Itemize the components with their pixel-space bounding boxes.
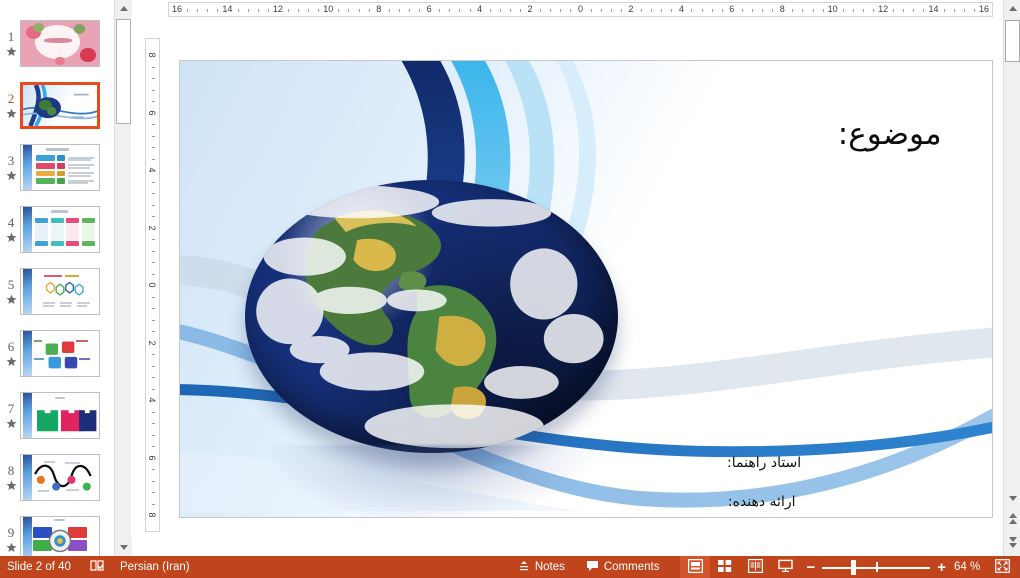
comments-label: Comments bbox=[604, 561, 660, 573]
ruler-tick-label: 6 bbox=[729, 4, 734, 14]
comment-bubble-icon bbox=[586, 560, 599, 575]
star-animation-icon bbox=[6, 540, 17, 551]
zoom-percentage-label: 64 % bbox=[954, 561, 980, 573]
scroll-down-button[interactable] bbox=[1004, 490, 1020, 506]
star-animation-icon bbox=[6, 416, 17, 427]
ruler-tick bbox=[268, 9, 269, 12]
ruler-tick-label: 2 bbox=[147, 225, 157, 230]
ruler-tick bbox=[152, 67, 155, 68]
ruler-tick bbox=[409, 9, 410, 12]
slide-thumbnail-pane[interactable]: 1 2 bbox=[0, 0, 114, 556]
ruler-tick bbox=[298, 9, 299, 12]
ruler-tick bbox=[510, 9, 511, 12]
star-animation-icon bbox=[6, 168, 17, 179]
ruler-tick bbox=[187, 9, 188, 12]
ruler-tick bbox=[570, 9, 571, 12]
ruler-tick bbox=[974, 9, 975, 12]
ruler-tick bbox=[944, 9, 945, 12]
ruler-tick bbox=[500, 9, 501, 12]
thumbnail-meta: 9 bbox=[0, 527, 20, 551]
thumbnail-slide-3[interactable]: 3 bbox=[0, 136, 114, 198]
ruler-tick-label: 8 bbox=[147, 52, 157, 57]
previous-slide-button[interactable] bbox=[1004, 510, 1020, 526]
current-slide[interactable]: موضوع: استاد راهنما: ارائه دهنده: bbox=[179, 60, 993, 518]
normal-view-button[interactable] bbox=[680, 556, 710, 578]
ruler-tick bbox=[823, 9, 824, 12]
star-animation-icon bbox=[6, 478, 17, 489]
thumbnail-image[interactable] bbox=[20, 268, 100, 315]
ruler-tick bbox=[152, 320, 155, 321]
ruler-tick bbox=[389, 9, 390, 12]
ruler-tick-label: 8 bbox=[376, 4, 381, 14]
thumbnail-meta: 3 bbox=[0, 155, 20, 179]
ruler-tick bbox=[601, 9, 602, 12]
thumbnail-number: 5 bbox=[8, 279, 15, 291]
ruler-tick bbox=[152, 90, 155, 91]
globe-reflection bbox=[267, 445, 596, 518]
ruler-tick bbox=[152, 446, 155, 447]
ruler-tick bbox=[152, 251, 155, 252]
ruler-tick-label: 8 bbox=[147, 512, 157, 517]
thumbnail-meta: 4 bbox=[0, 217, 20, 241]
status-bar: Slide 2 of 40 Persian (Iran) N bbox=[0, 556, 1020, 578]
ruler-tick bbox=[152, 205, 155, 206]
thumbnail-image[interactable] bbox=[20, 516, 100, 557]
thumbnail-number: 6 bbox=[8, 341, 15, 353]
star-animation-icon bbox=[6, 230, 17, 241]
ruler-tick bbox=[258, 9, 259, 12]
ruler-tick-label: 0 bbox=[578, 4, 583, 14]
triangle-up-icon bbox=[1009, 6, 1017, 11]
ruler-tick bbox=[621, 9, 622, 12]
ruler-tick bbox=[152, 78, 155, 79]
notes-button[interactable]: Notes bbox=[511, 556, 572, 578]
thumbnail-meta: 7 bbox=[0, 403, 20, 427]
slide-counter-label: Slide 2 of 40 bbox=[7, 561, 71, 573]
ruler-tick bbox=[611, 9, 612, 12]
scroll-up-button[interactable] bbox=[1004, 0, 1020, 17]
ruler-tick-label: 10 bbox=[828, 4, 838, 14]
ruler-tick bbox=[348, 9, 349, 12]
presenter-line-text[interactable]: ارائه دهنده: bbox=[728, 494, 796, 510]
ruler-tick bbox=[772, 9, 773, 12]
fit-to-window-icon bbox=[995, 559, 1010, 576]
supervisor-line-text[interactable]: استاد راهنما: bbox=[727, 455, 801, 471]
ruler-tick bbox=[152, 159, 155, 160]
ruler-tick bbox=[449, 9, 450, 12]
thumbnail-meta: 5 bbox=[0, 279, 20, 303]
ruler-tick bbox=[152, 412, 155, 413]
ruler-tick bbox=[152, 377, 155, 378]
slide-show-icon bbox=[778, 559, 793, 576]
ruler-tick bbox=[152, 481, 155, 482]
thumbnail-scroll-down-button[interactable] bbox=[115, 539, 132, 556]
ruler-tick bbox=[152, 124, 155, 125]
ruler-tick bbox=[762, 9, 763, 12]
thumbnail-pane-scrollbar[interactable] bbox=[114, 0, 131, 556]
ruler-tick bbox=[459, 9, 460, 12]
ruler-tick bbox=[813, 9, 814, 12]
ruler-tick bbox=[399, 9, 400, 12]
thumbnail-image[interactable] bbox=[20, 454, 100, 501]
ruler-tick bbox=[152, 193, 155, 194]
ruler-tick bbox=[152, 423, 155, 424]
slide-show-button[interactable] bbox=[770, 556, 800, 578]
language-indicator[interactable]: Persian (Iran) bbox=[111, 556, 197, 578]
ruler-tick bbox=[702, 9, 703, 12]
thumbnail-slide-5[interactable]: 5 bbox=[0, 260, 114, 322]
ruler-tick-label: 2 bbox=[628, 4, 633, 14]
ruler-tick bbox=[152, 262, 155, 263]
slide-title-text[interactable]: موضوع: bbox=[838, 116, 942, 152]
ruler-tick bbox=[722, 9, 723, 12]
ruler-tick bbox=[439, 9, 440, 12]
reading-view-icon bbox=[748, 559, 763, 576]
ruler-tick-label: 10 bbox=[323, 4, 333, 14]
thumbnail-slide-1[interactable]: 1 bbox=[0, 12, 114, 74]
ruler-tick bbox=[217, 9, 218, 12]
ruler-tick bbox=[308, 9, 309, 12]
slide-counter[interactable]: Slide 2 of 40 bbox=[0, 556, 78, 578]
ruler-tick bbox=[152, 366, 155, 367]
triangle-down-icon bbox=[1009, 496, 1017, 501]
thumbnail-image-selected[interactable] bbox=[20, 82, 100, 129]
next-slide-button[interactable] bbox=[1004, 534, 1020, 550]
zoom-percentage[interactable]: 64 % bbox=[952, 556, 988, 578]
ruler-tick bbox=[248, 9, 249, 12]
ruler-tick bbox=[419, 9, 420, 12]
ruler-tick bbox=[550, 9, 551, 12]
ruler-tick bbox=[661, 9, 662, 12]
comments-button[interactable]: Comments bbox=[572, 556, 667, 578]
ruler-tick bbox=[369, 9, 370, 12]
normal-view-icon bbox=[688, 559, 703, 576]
ruler-tick-label: 12 bbox=[273, 4, 283, 14]
ruler-tick-label: 14 bbox=[929, 4, 939, 14]
ruler-tick bbox=[873, 9, 874, 12]
ruler-tick bbox=[207, 9, 208, 12]
thumbnail-meta: 8 bbox=[0, 465, 20, 489]
ruler-tick bbox=[520, 9, 521, 12]
thumbnail-meta: 1 bbox=[0, 31, 20, 55]
zoom-control[interactable]: − + bbox=[800, 556, 952, 578]
ruler-tick bbox=[152, 136, 155, 137]
ruler-tick bbox=[152, 297, 155, 298]
spellcheck-status-button[interactable] bbox=[78, 556, 111, 578]
ruler-tick-label: 4 bbox=[147, 397, 157, 402]
thumbnail-scroll-up-button[interactable] bbox=[115, 0, 132, 17]
language-label: Persian (Iran) bbox=[120, 561, 190, 573]
ruler-tick bbox=[152, 308, 155, 309]
ruler-tick bbox=[152, 354, 155, 355]
ruler-tick bbox=[152, 504, 155, 505]
spellcheck-book-icon bbox=[90, 559, 104, 575]
star-animation-icon bbox=[6, 44, 17, 55]
ruler-tick bbox=[913, 9, 914, 12]
ruler-tick bbox=[152, 435, 155, 436]
ruler-tick-label: 12 bbox=[878, 4, 888, 14]
ruler-tick-label: 6 bbox=[427, 4, 432, 14]
ruler-tick bbox=[152, 389, 155, 390]
vertical-ruler: 864202468 bbox=[145, 38, 160, 532]
thumbnail-image[interactable] bbox=[20, 20, 100, 67]
star-animation-icon bbox=[6, 292, 17, 303]
ruler-tick bbox=[752, 9, 753, 12]
thumbnail-number: 4 bbox=[8, 217, 15, 229]
ruler-tick bbox=[863, 9, 864, 12]
ruler-tick bbox=[853, 9, 854, 12]
thumbnail-number: 1 bbox=[8, 31, 15, 43]
ruler-tick bbox=[238, 9, 239, 12]
ruler-tick bbox=[152, 216, 155, 217]
ruler-tick bbox=[152, 469, 155, 470]
star-animation-icon bbox=[6, 106, 17, 117]
ruler-tick bbox=[152, 331, 155, 332]
thumbnail-image[interactable] bbox=[20, 330, 100, 377]
ruler-tick bbox=[318, 9, 319, 12]
powerpoint-window: 1 2 bbox=[0, 0, 1020, 578]
ruler-tick-label: 2 bbox=[147, 340, 157, 345]
ruler-tick-label: 6 bbox=[147, 110, 157, 115]
ruler-tick bbox=[742, 9, 743, 12]
triangle-down-icon bbox=[120, 545, 128, 550]
ruler-tick bbox=[197, 9, 198, 12]
thumbnail-scrollbar-thumb[interactable] bbox=[116, 19, 131, 124]
ruler-tick bbox=[964, 9, 965, 12]
ruler-tick-label: 14 bbox=[222, 4, 232, 14]
thumbnail-slide-6[interactable]: 6 bbox=[0, 322, 114, 384]
ruler-tick bbox=[152, 239, 155, 240]
ruler-tick-label: 4 bbox=[477, 4, 482, 14]
ruler-tick bbox=[152, 101, 155, 102]
ruler-tick bbox=[641, 9, 642, 12]
thumbnail-meta: 6 bbox=[0, 341, 20, 365]
thumbnail-slide-2[interactable]: 2 bbox=[0, 74, 114, 136]
globe-sphere bbox=[245, 180, 619, 454]
double-arrow-down-icon bbox=[1009, 537, 1017, 548]
ruler-tick bbox=[923, 9, 924, 12]
ruler-tick bbox=[691, 9, 692, 12]
reading-view-button[interactable] bbox=[740, 556, 770, 578]
zoom-slider-midpoint bbox=[876, 562, 878, 572]
ruler-tick bbox=[802, 9, 803, 12]
thumbnail-image[interactable] bbox=[20, 144, 100, 191]
ruler-tick-label: 4 bbox=[679, 4, 684, 14]
ruler-tick-label: 16 bbox=[172, 4, 182, 14]
triangle-up-icon bbox=[120, 6, 128, 11]
star-animation-icon bbox=[6, 354, 17, 365]
ruler-tick bbox=[903, 9, 904, 12]
ruler-tick bbox=[560, 9, 561, 12]
thumbnail-number: 2 bbox=[8, 93, 15, 105]
zoom-slider[interactable] bbox=[822, 556, 930, 578]
ruler-tick bbox=[954, 9, 955, 12]
ruler-tick bbox=[540, 9, 541, 12]
notes-icon bbox=[518, 560, 530, 575]
ruler-tick-label: 6 bbox=[147, 455, 157, 460]
notes-label: Notes bbox=[535, 561, 565, 573]
ruler-tick-label: 8 bbox=[780, 4, 785, 14]
zoom-in-button[interactable]: + bbox=[937, 560, 946, 575]
ruler-tick bbox=[843, 9, 844, 12]
ruler-tick-label: 16 bbox=[979, 4, 989, 14]
ruler-tick bbox=[490, 9, 491, 12]
horizontal-ruler: 1614121086420246810121416 bbox=[168, 2, 993, 17]
thumbnail-slide-4[interactable]: 4 bbox=[0, 198, 114, 260]
ruler-tick bbox=[470, 9, 471, 12]
vertical-scrollbar-thumb[interactable] bbox=[1005, 20, 1020, 62]
thumbnail-number: 3 bbox=[8, 155, 15, 167]
thumbnail-image[interactable] bbox=[20, 206, 100, 253]
thumbnail-slide-9[interactable]: 9 bbox=[0, 508, 114, 556]
slide-sorter-view-button[interactable] bbox=[710, 556, 740, 578]
ruler-tick-label: 2 bbox=[528, 4, 533, 14]
ruler-tick-label: 0 bbox=[147, 282, 157, 287]
ruler-tick bbox=[338, 9, 339, 12]
ruler-tick bbox=[651, 9, 652, 12]
thumbnail-number: 8 bbox=[8, 465, 15, 477]
ruler-tick bbox=[152, 147, 155, 148]
thumbnail-number: 7 bbox=[8, 403, 15, 415]
ruler-tick bbox=[152, 274, 155, 275]
ruler-tick bbox=[591, 9, 592, 12]
ruler-tick bbox=[792, 9, 793, 12]
fit-to-window-button[interactable] bbox=[988, 556, 1020, 578]
ruler-tick-label: 4 bbox=[147, 167, 157, 172]
ruler-tick bbox=[288, 9, 289, 12]
thumbnail-number: 9 bbox=[8, 527, 15, 539]
ruler-tick bbox=[152, 182, 155, 183]
ruler-tick bbox=[712, 9, 713, 12]
zoom-slider-handle[interactable] bbox=[851, 560, 856, 575]
thumbnail-slide-7[interactable]: 7 bbox=[0, 384, 114, 446]
ruler-tick bbox=[359, 9, 360, 12]
slide-sorter-icon bbox=[718, 559, 732, 576]
double-arrow-up-icon bbox=[1009, 513, 1017, 524]
thumbnail-meta: 2 bbox=[0, 93, 20, 117]
ruler-tick bbox=[671, 9, 672, 12]
slide-editing-canvas[interactable]: موضوع: استاد راهنما: ارائه دهنده: bbox=[162, 18, 1003, 556]
ruler-tick bbox=[893, 9, 894, 12]
ruler-tick bbox=[152, 492, 155, 493]
thumbnail-image[interactable] bbox=[20, 392, 100, 439]
zoom-out-button[interactable]: − bbox=[806, 560, 815, 575]
thumbnail-slide-8[interactable]: 8 bbox=[0, 446, 114, 508]
slide-vertical-scrollbar[interactable] bbox=[1003, 0, 1020, 556]
earth-globe-image[interactable] bbox=[245, 180, 619, 454]
